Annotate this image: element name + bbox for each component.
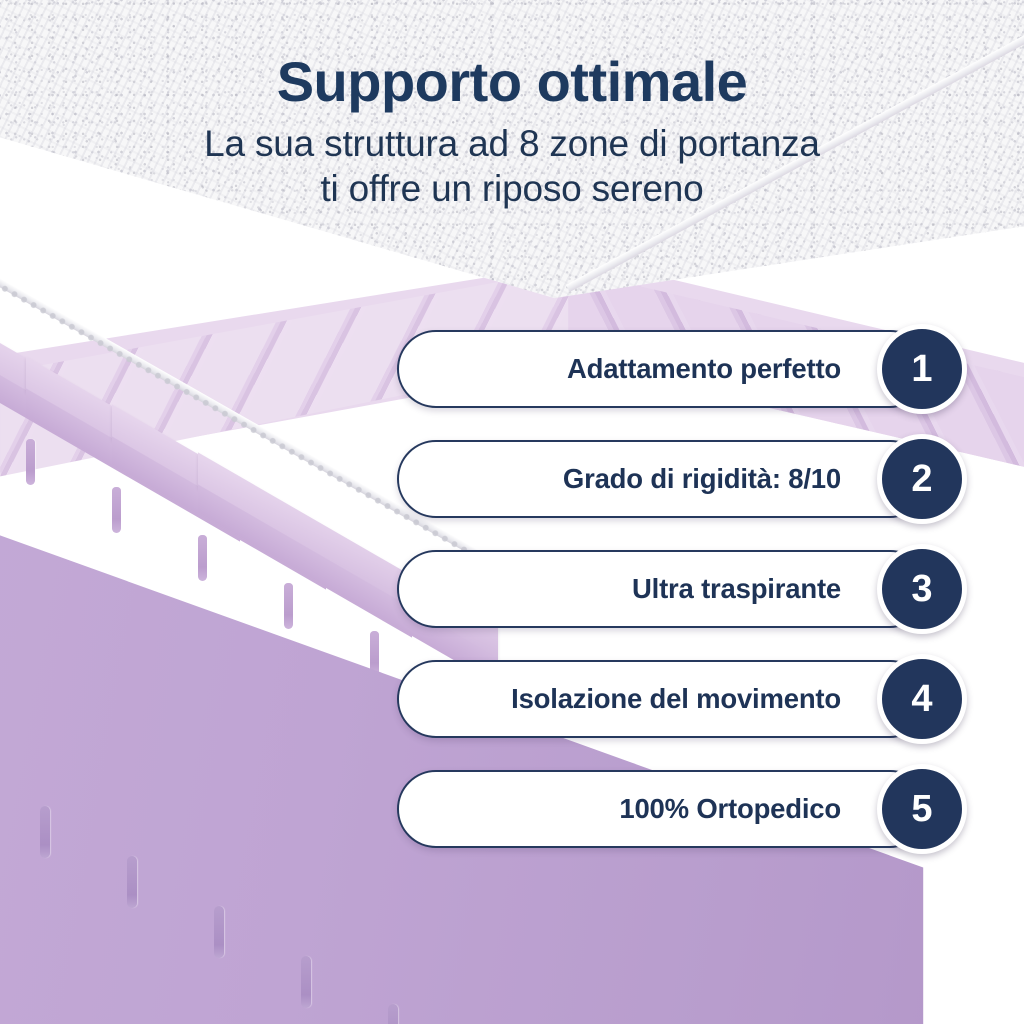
feature-item-3[interactable]: Ultra traspirante 3 [397,550,967,628]
feature-item-5[interactable]: 100% Ortopedico 5 [397,770,967,848]
page-subtitle-line-1: La sua struttura ad 8 zone di portanza [0,121,1024,166]
feature-number: 1 [911,350,932,388]
heading-block: Supporto ottimale La sua struttura ad 8 … [0,52,1024,212]
feature-number-badge: 5 [877,764,967,854]
front-foam-notch [214,906,224,958]
feature-pill[interactable]: Adattamento perfetto [397,330,929,408]
front-foam-notch [40,806,50,858]
feature-pill[interactable]: 100% Ortopedico [397,770,929,848]
feature-number-badge: 1 [877,324,967,414]
page-subtitle-line-2: ti offre un riposo sereno [0,166,1024,211]
feature-number: 4 [911,680,932,718]
feature-number: 2 [911,460,932,498]
feature-label: Isolazione del movimento [511,683,841,715]
feature-list: Adattamento perfetto 1 Grado di rigidità… [397,330,967,880]
feature-item-1[interactable]: Adattamento perfetto 1 [397,330,967,408]
front-foam-notch [301,956,311,1008]
feature-label: 100% Ortopedico [619,793,841,825]
page-title: Supporto ottimale [0,52,1024,111]
feature-label: Ultra traspirante [632,573,841,605]
feature-label: Grado di rigidità: 8/10 [563,463,841,495]
feature-item-4[interactable]: Isolazione del movimento 4 [397,660,967,738]
feature-number-badge: 2 [877,434,967,524]
feature-number: 5 [911,790,932,828]
product-feature-graphic: Supporto ottimale La sua struttura ad 8 … [0,0,1024,1024]
feature-pill[interactable]: Ultra traspirante [397,550,929,628]
front-foam-notch [127,856,137,908]
feature-number: 3 [911,570,932,608]
front-foam-notch [388,1004,398,1024]
feature-number-badge: 3 [877,544,967,634]
feature-item-2[interactable]: Grado di rigidità: 8/10 2 [397,440,967,518]
feature-label: Adattamento perfetto [567,353,841,385]
feature-pill[interactable]: Grado di rigidità: 8/10 [397,440,929,518]
feature-pill[interactable]: Isolazione del movimento [397,660,929,738]
feature-number-badge: 4 [877,654,967,744]
